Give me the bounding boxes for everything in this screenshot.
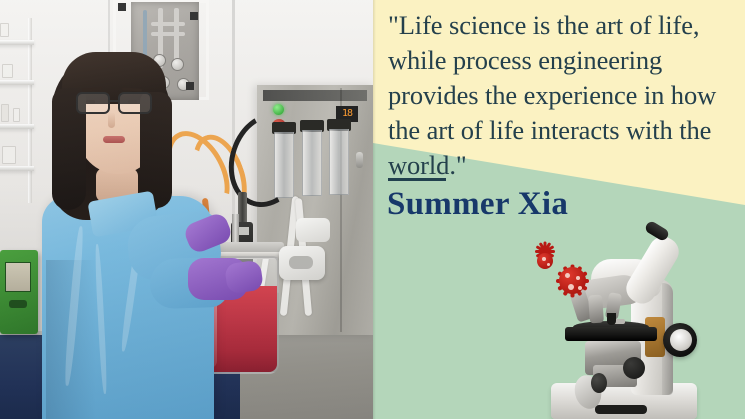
- lens-left: [76, 92, 110, 114]
- quote-panel: "Life science is the art of life, while …: [373, 0, 745, 419]
- tower-door-handle: [356, 152, 363, 168]
- panel-bolt: [118, 3, 126, 11]
- nose: [108, 112, 115, 128]
- white-fixture: [296, 218, 330, 242]
- shelf-item: [1, 104, 9, 122]
- white-clamp: [279, 246, 325, 280]
- author-name: Summer Xia: [387, 185, 568, 223]
- glass-column: [329, 129, 349, 195]
- coarse-focus-knob-face: [670, 329, 692, 351]
- shelf-item: [0, 23, 9, 37]
- objective-lens-tip: [607, 313, 616, 325]
- fine-focus-knob[interactable]: [623, 357, 645, 379]
- glasses-bridge: [110, 100, 120, 102]
- eyeglasses: [76, 92, 160, 114]
- mouth: [103, 136, 125, 143]
- microscope-stage: [565, 327, 657, 341]
- pressure-gauge: [171, 58, 184, 71]
- shelf-item: [2, 146, 16, 164]
- shelf-post: [28, 18, 32, 203]
- virus-body: [559, 267, 586, 294]
- lab-shelving-unit: [0, 18, 36, 203]
- shelf-item: [2, 64, 13, 78]
- shelf-item: [13, 108, 20, 122]
- glass-column: [302, 130, 322, 196]
- laboratory-photo: 18: [0, 0, 373, 419]
- objective-lens: [588, 295, 604, 324]
- shelf-board: [0, 80, 34, 85]
- shelf-board: [0, 166, 34, 171]
- shelf-board: [0, 40, 34, 45]
- gas-pipe: [151, 32, 185, 36]
- virus-body: [537, 253, 553, 269]
- panel-bolt: [186, 82, 194, 90]
- shelf-board: [0, 124, 34, 129]
- probe-stem: [238, 192, 247, 226]
- quote-text: "Life science is the art of life, while …: [388, 8, 733, 183]
- instrument-knob: [9, 300, 27, 308]
- lens-right: [118, 92, 152, 114]
- microscope-illustration: [523, 225, 738, 419]
- quote-divider: [388, 178, 446, 181]
- gas-pipe: [151, 22, 185, 26]
- gas-pipe: [174, 8, 179, 64]
- tower-brand-label: [263, 90, 367, 101]
- instrument-screen: [5, 262, 31, 292]
- microscope-base-strip: [595, 405, 647, 414]
- panel-bolt: [190, 12, 198, 20]
- green-instrument: [0, 250, 38, 334]
- panel-edge-shadow: [373, 0, 376, 419]
- stage-adjust-knob[interactable]: [591, 373, 607, 393]
- slide-canvas: 18: [0, 0, 745, 419]
